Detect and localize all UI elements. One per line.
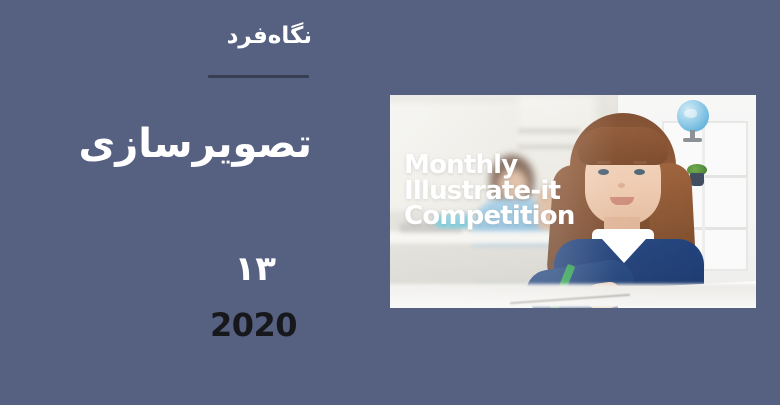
- brand-divider: [208, 75, 309, 78]
- desk-bottom-edge: [390, 284, 756, 308]
- slide-canvas: نگاه‌فرد تصویرسازی ۱۳ 2020: [0, 0, 780, 405]
- photo-card: Monthly Illustrate-it Competition: [390, 95, 756, 308]
- photo-headline: Monthly Illustrate-it Competition: [404, 153, 634, 230]
- year-label: 2020: [210, 306, 297, 344]
- headline-line-1: Monthly: [404, 153, 634, 179]
- page-title: تصویرسازی: [0, 118, 312, 170]
- brand-name: نگاه‌فرد: [0, 20, 312, 52]
- girl-eyebrow-right: [633, 161, 647, 164]
- headline-line-3: Competition: [404, 204, 634, 230]
- left-text-column: نگاه‌فرد تصویرسازی ۱۳ 2020: [0, 0, 312, 405]
- issue-number: ۱۳: [234, 250, 276, 289]
- girl-eye-right: [634, 169, 645, 175]
